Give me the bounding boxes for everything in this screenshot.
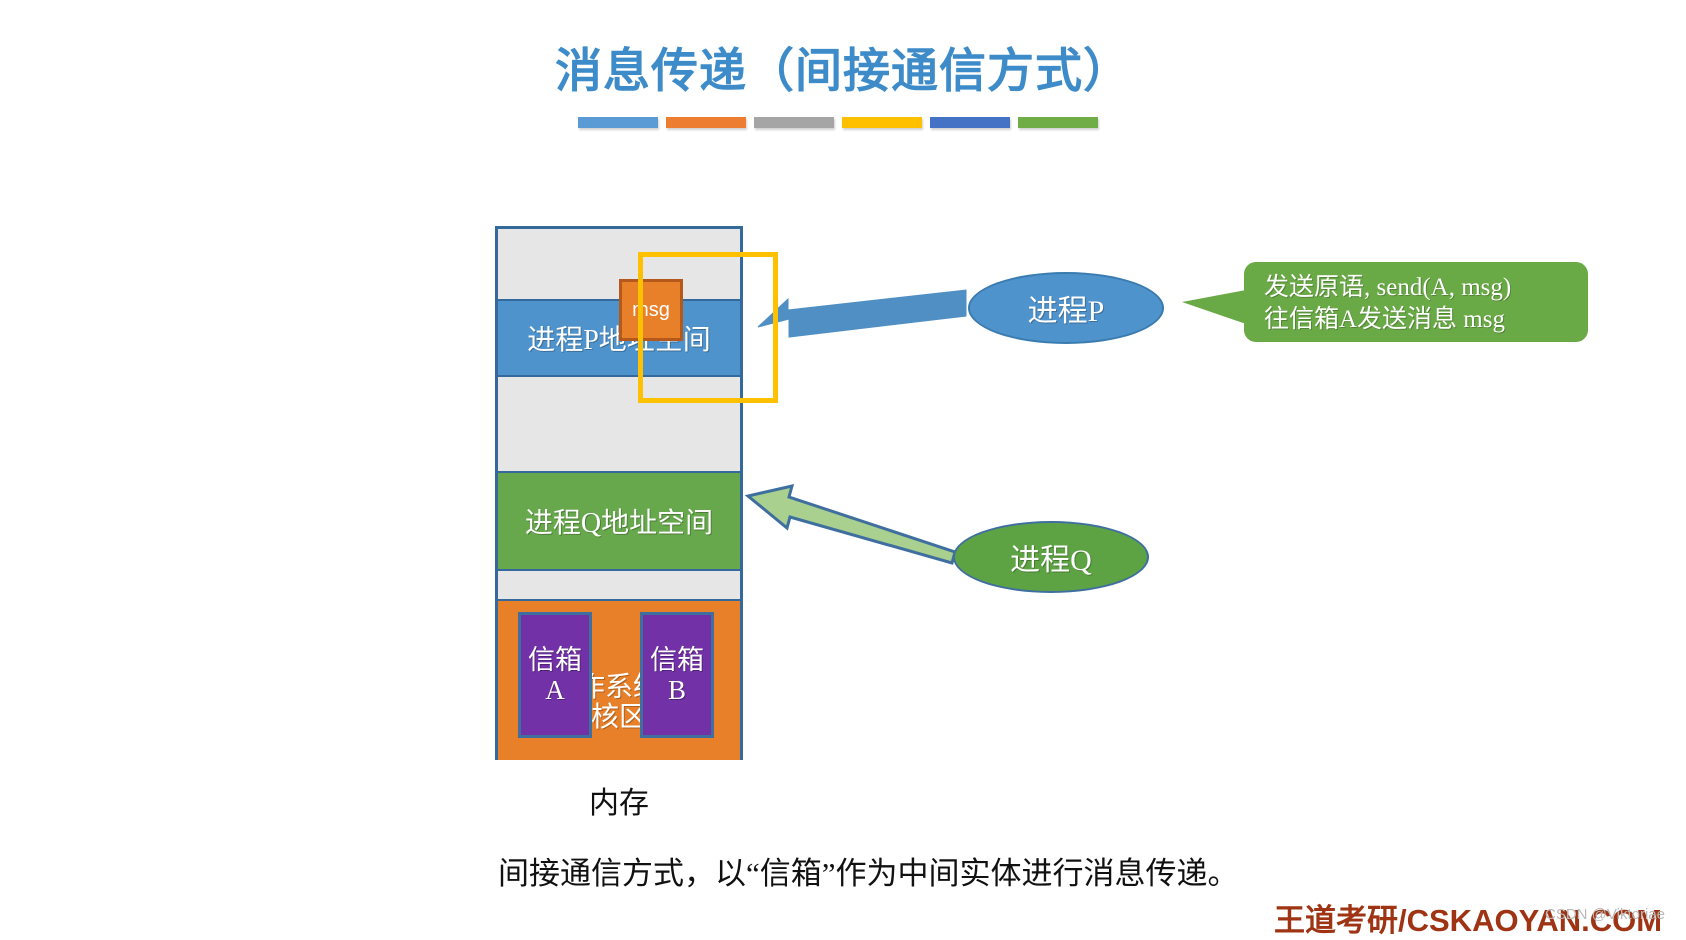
- actor-process-p: 进程P: [968, 272, 1164, 344]
- callout-line-1: 发送原语, send(A, msg): [1264, 272, 1582, 304]
- callout-tail: [1182, 290, 1246, 324]
- mailbox-b: 信箱 B: [640, 612, 714, 738]
- mailbox-a-id: A: [545, 675, 565, 705]
- callout-line-2: 往信箱A发送消息 msg: [1264, 304, 1582, 336]
- send-primitive-callout: 发送原语, send(A, msg) 往信箱A发送消息 msg: [1244, 262, 1588, 342]
- actor-process-q-label: 进程Q: [1010, 535, 1092, 579]
- actor-process-q: 进程Q: [953, 521, 1149, 593]
- mailbox-a: 信箱 A: [518, 612, 592, 738]
- highlight-rectangle: [638, 252, 778, 403]
- mailbox-a-name: 信箱: [528, 645, 582, 675]
- csdn-watermark-tag: CSDN @Viktoriae: [1545, 906, 1665, 923]
- arrow-process-q: [748, 486, 955, 563]
- arrow-layer: [0, 0, 1686, 940]
- mailbox-b-name: 信箱: [650, 645, 704, 675]
- mailbox-b-id: B: [668, 675, 686, 705]
- arrow-process-p: [758, 290, 966, 337]
- bottom-note: 间接通信方式，以“信箱”作为中间实体进行消息传递。: [498, 848, 1239, 893]
- actor-process-p-label: 进程P: [1028, 286, 1105, 330]
- slide-canvas: 消息传递（间接通信方式） 进程P地址空间 进程Q地址空间 操作系统内 核区 信箱…: [0, 0, 1686, 940]
